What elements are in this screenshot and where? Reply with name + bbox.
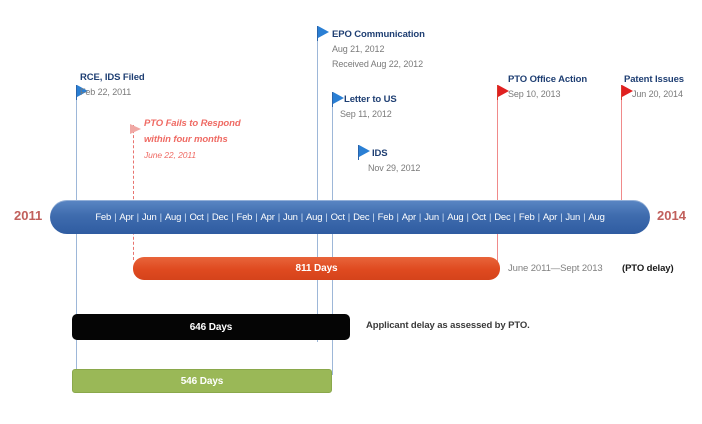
flag-title-ids: IDS: [372, 148, 388, 159]
flag-title-epo-communication: EPO Communication: [332, 29, 425, 40]
month-separator: |: [345, 212, 353, 223]
month-tick: Feb: [519, 212, 535, 223]
month-separator: |: [464, 212, 472, 223]
month-separator: |: [157, 212, 165, 223]
month-separator: |: [204, 212, 212, 223]
month-tick: Jun: [283, 212, 298, 223]
guide-line-office-action: [497, 88, 498, 270]
month-tick: Oct: [472, 212, 486, 223]
flag-date-pto-office-action: Sep 10, 2013: [508, 89, 560, 99]
flag-date-received-epo-communication: Received Aug 22, 2012: [332, 59, 423, 69]
flag-date-letter-to-us: Sep 11, 2012: [340, 109, 392, 119]
flag-pennant-icon: [318, 26, 329, 38]
month-separator: |: [393, 212, 401, 223]
applicant-delay-note: Applicant delay as assessed by PTO.: [366, 320, 530, 331]
month-tick: Dec: [353, 212, 369, 223]
annotation-pto-fails-line1: PTO Fails to Respond: [144, 118, 241, 129]
month-separator: |: [511, 212, 519, 223]
month-tick: Feb: [95, 212, 111, 223]
annotation-pto-fails-line2: within four months: [144, 134, 228, 145]
timeline-start-year: 2011: [14, 208, 42, 223]
duration-bar-label: 646 Days: [190, 322, 233, 333]
timeline-bar[interactable]: Feb|Apr|Jun|Aug|Oct|Dec|Feb|Apr|Jun|Aug|…: [50, 200, 650, 234]
month-separator: |: [580, 212, 588, 223]
flag-title-rce-ids-filed: RCE, IDS Filed: [80, 72, 145, 83]
month-separator: |: [181, 212, 189, 223]
month-tick: Feb: [378, 212, 394, 223]
duration-bar-label: 811 Days: [295, 263, 337, 274]
pto-delay-range-text: June 2011—Sept 2013: [508, 263, 603, 274]
month-tick: Apr: [402, 212, 416, 223]
month-tick: Aug: [306, 212, 322, 223]
month-tick: Oct: [189, 212, 203, 223]
duration-bar-pto-delay[interactable]: 811 Days: [133, 257, 500, 280]
month-tick: Jun: [565, 212, 580, 223]
duration-bar-label: 546 Days: [181, 376, 224, 387]
month-separator: |: [416, 212, 424, 223]
month-separator: |: [557, 212, 565, 223]
month-separator: |: [228, 212, 236, 223]
timeline-end-year: 2014: [657, 208, 686, 223]
duration-bar-adjustment[interactable]: 546 Days: [72, 369, 332, 393]
flag-pennant-icon: [333, 92, 344, 104]
flag-title-pto-office-action: PTO Office Action: [508, 74, 587, 85]
month-separator: |: [322, 212, 330, 223]
duration-bar-applicant-delay[interactable]: 646 Days: [72, 314, 350, 340]
month-tick: Apr: [119, 212, 133, 223]
month-tick: Jun: [424, 212, 439, 223]
month-tick: Feb: [236, 212, 252, 223]
month-tick-track: Feb|Apr|Jun|Aug|Oct|Dec|Feb|Apr|Jun|Aug|…: [95, 212, 604, 223]
month-tick: Apr: [543, 212, 557, 223]
flag-title-letter-to-us: Letter to US: [344, 94, 397, 105]
month-separator: |: [111, 212, 119, 223]
month-separator: |: [535, 212, 543, 223]
flag-pennant-icon: [130, 124, 141, 134]
annotation-pto-fails-date: June 22, 2011: [144, 150, 196, 160]
month-tick: Aug: [447, 212, 463, 223]
guide-line-pto-fails: [133, 125, 134, 260]
guide-line-epo: [317, 30, 318, 342]
month-tick: Oct: [331, 212, 345, 223]
timeline-diagram: RCE, IDS Filed Feb 22, 2011 PTO Fails to…: [0, 0, 702, 424]
flag-date-epo-communication: Aug 21, 2012: [332, 44, 384, 54]
guide-line-patent-issues: [621, 88, 622, 213]
flag-title-patent-issues: Patent Issues: [624, 74, 684, 85]
flag-pennant-icon: [359, 145, 370, 157]
flag-date-patent-issues: Jun 20, 2014: [632, 89, 683, 99]
month-tick: Jun: [142, 212, 157, 223]
month-separator: |: [275, 212, 283, 223]
month-tick: Dec: [212, 212, 228, 223]
flag-date-ids: Nov 29, 2012: [368, 163, 420, 173]
month-tick: Apr: [261, 212, 275, 223]
month-separator: |: [298, 212, 306, 223]
month-separator: |: [439, 212, 447, 223]
pto-delay-note: (PTO delay): [622, 263, 674, 274]
month-tick: Aug: [588, 212, 604, 223]
month-separator: |: [369, 212, 377, 223]
month-tick: Dec: [494, 212, 510, 223]
month-separator: |: [134, 212, 142, 223]
month-separator: |: [486, 212, 494, 223]
flag-date-rce-ids-filed: Feb 22, 2011: [80, 87, 131, 97]
month-tick: Aug: [165, 212, 181, 223]
month-separator: |: [252, 212, 260, 223]
